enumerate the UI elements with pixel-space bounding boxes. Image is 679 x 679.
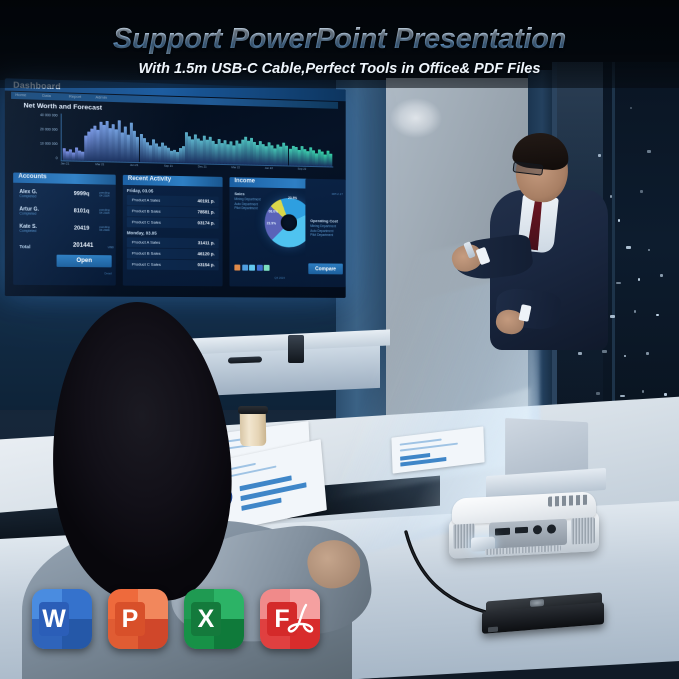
- activity-row[interactable]: Product B Sales 46120 p.: [127, 248, 219, 259]
- city-window-light: [647, 150, 651, 153]
- activity-value: 03174 p.: [198, 220, 215, 225]
- city-window-light: [618, 219, 620, 222]
- account-value: 8101q: [74, 208, 90, 214]
- account-date: pending04 2024: [99, 209, 109, 216]
- operating-cost-item: Pilot Department: [310, 233, 336, 238]
- legend-item: Pilot Department: [234, 206, 260, 211]
- x-tick-label: Sep 21: [164, 164, 173, 168]
- y-tick-label: 20 000 000: [40, 127, 57, 132]
- color-swatch: [249, 265, 255, 271]
- activity-value: 78581 p.: [198, 209, 215, 214]
- activity-row[interactable]: Product A Sales 40191 p.: [127, 195, 219, 207]
- accounts-panel: Accounts Alex G. Completed 9999q pending…: [13, 172, 116, 285]
- pdf-app-icon[interactable]: F: [260, 589, 320, 649]
- power-bank-usbc-port: [488, 627, 498, 633]
- chart-bars: [61, 114, 334, 168]
- income-color-swatches: [234, 265, 269, 271]
- activity-value: 03154 p.: [198, 262, 215, 267]
- activity-row[interactable]: Product C Sales 03174 p.: [127, 217, 219, 228]
- city-window-light: [578, 352, 582, 355]
- dashboard-nav-item[interactable]: Data: [42, 93, 51, 98]
- account-row[interactable]: Alex G. Completed 9999q pending04 2024: [19, 189, 109, 205]
- y-tick-label: 10 000 000: [40, 142, 57, 147]
- account-row[interactable]: Artur G. Completed 8101q pending04 2024: [19, 206, 109, 222]
- activity-label: Product A Sales: [132, 198, 160, 204]
- activity-label: Product A Sales: [132, 240, 160, 245]
- chart-bar: [329, 153, 332, 166]
- activity-value: 46120 p.: [198, 251, 215, 256]
- activity-label: Product C Sales: [132, 262, 161, 267]
- city-window-light: [610, 315, 615, 318]
- activity-value: 31411 p.: [198, 240, 215, 245]
- accounts-title: Accounts: [18, 174, 46, 181]
- x-tick-label: Dec 21: [198, 164, 207, 168]
- x-tick-label: Mar 22: [231, 165, 240, 169]
- color-swatch: [256, 265, 262, 271]
- x-tick-label: Sep 22: [298, 167, 307, 171]
- icon-letter-tile: X: [191, 602, 221, 636]
- hdmi-port: [495, 528, 510, 536]
- chart-y-axis: 40 000 00020 000 00010 000 0000: [24, 113, 59, 165]
- powerpoint-app-icon[interactable]: P: [108, 589, 168, 649]
- coffee-cup-lid: [238, 406, 268, 414]
- city-window-light: [630, 107, 632, 109]
- projector-vent-right: [571, 517, 595, 544]
- account-value: 20419: [74, 225, 89, 231]
- city-window-light: [648, 249, 650, 251]
- speaker-device: [288, 335, 304, 363]
- dashboard-nav-item[interactable]: Admin: [95, 94, 107, 99]
- city-window-light: [664, 393, 667, 396]
- operating-cost-title: Operating Cost: [310, 218, 338, 223]
- power-bank-logo: [530, 599, 544, 607]
- account-value: 9999q: [74, 190, 90, 196]
- accounts-panel-header: Accounts: [13, 172, 116, 184]
- y-tick-label: 0: [56, 156, 58, 160]
- x-tick-label: Jun 21: [130, 163, 138, 167]
- activity-label: Product C Sales: [132, 220, 161, 225]
- compare-button[interactable]: Compare: [308, 263, 343, 274]
- city-window-light: [626, 246, 631, 249]
- city-window-light: [624, 355, 626, 357]
- accounts-total-label: Total: [19, 244, 30, 249]
- account-status: Completed: [19, 194, 36, 198]
- activity-row[interactable]: Product A Sales 31411 p.: [127, 237, 219, 248]
- donut-percent-label: 23.5%: [288, 196, 297, 200]
- word-app-icon[interactable]: W: [32, 589, 92, 649]
- activity-label: Product B Sales: [132, 251, 161, 256]
- accounts-total-currency: USD: [108, 245, 114, 249]
- city-window-light: [598, 154, 601, 157]
- office-app-icons: W P X F: [32, 589, 320, 649]
- city-window-light: [642, 390, 644, 393]
- activity-title: Recent Activity: [128, 176, 171, 183]
- activity-day-label: Friday, 03.05: [127, 188, 153, 194]
- y-tick-label: 40 000 000: [40, 113, 57, 118]
- coffee-cup: [240, 412, 267, 446]
- city-window-light: [646, 352, 649, 355]
- activity-panel-header: Recent Activity: [123, 175, 223, 187]
- excel-app-icon[interactable]: X: [184, 589, 244, 649]
- activity-value: 40191 p.: [198, 198, 215, 203]
- activity-row[interactable]: Product C Sales 03154 p.: [127, 259, 219, 270]
- income-legend-title: Sales: [234, 191, 244, 196]
- account-date: pending04 2024: [99, 226, 109, 233]
- page-subtitle: With 1.5m USB-C Cable,Perfect Tools in O…: [0, 61, 679, 77]
- page-title: Support PowerPoint Presentation: [0, 23, 679, 56]
- projection-screen: Dashboard HomeDataReportAdmin Net Worth …: [5, 78, 346, 298]
- accounts-total-value: 201441: [73, 243, 93, 249]
- dashboard-nav-item[interactable]: Home: [15, 92, 26, 97]
- income-legend: Mining DepartmentAuto DepartmentPilot De…: [234, 197, 260, 211]
- income-title: Income: [234, 178, 255, 184]
- city-window-light: [620, 395, 625, 397]
- account-row[interactable]: Kate S. Completed 20419 pending04 2024: [19, 224, 109, 239]
- operating-cost-items: Mining DepartmentAuto DepartmentPilot De…: [310, 224, 336, 238]
- city-window-light: [596, 392, 600, 395]
- activity-label: Product B Sales: [132, 209, 161, 214]
- icon-letter-tile: W: [39, 602, 69, 636]
- income-footnote: Q4 2024: [274, 276, 284, 280]
- activity-row[interactable]: Product B Sales 78581 p.: [127, 206, 219, 218]
- city-window-light: [634, 310, 636, 313]
- dpi-label: DPI:2.17: [332, 192, 343, 196]
- dashboard-nav-item[interactable]: Report: [69, 94, 81, 99]
- audio-jack-port: [547, 524, 556, 533]
- activity-day-label: Monday, 03.05: [127, 230, 157, 235]
- x-tick-label: Mar 21: [95, 162, 104, 166]
- city-window-light: [610, 195, 612, 198]
- icon-letter-tile: P: [115, 602, 145, 636]
- accounts-footnote: Detail: [104, 271, 111, 275]
- dashboard-app: Dashboard HomeDataReportAdmin Net Worth …: [5, 78, 346, 298]
- city-window-light: [602, 350, 607, 353]
- header-banner: Support PowerPoint Presentation With 1.5…: [0, 0, 679, 88]
- chart-title: Net Worth and Forecast: [24, 102, 103, 111]
- city-window-light: [638, 278, 640, 281]
- operating-cost-panel: DPI:2.17 Operating Cost Mining Departmen…: [305, 179, 345, 287]
- donut-hole: [281, 214, 297, 231]
- color-swatch: [264, 265, 270, 271]
- color-swatch: [242, 265, 248, 271]
- recent-activity-panel: Recent Activity Friday, 03.05 Product A …: [123, 175, 223, 286]
- net-worth-chart: Net Worth and Forecast 40 000 00020 000 …: [24, 102, 335, 172]
- portable-projector: [449, 491, 599, 561]
- color-swatch: [234, 265, 240, 271]
- account-status: Completed: [19, 212, 36, 216]
- usb-port: [515, 527, 528, 534]
- av-port: [533, 525, 542, 534]
- city-window-light: [616, 282, 621, 284]
- account-date: pending04 2024: [99, 191, 109, 198]
- x-tick-label: Jun 22: [265, 166, 273, 170]
- city-window-light: [660, 274, 663, 277]
- donut-percent-label: 08.0%: [269, 210, 278, 214]
- product-marketing-image: Dashboard HomeDataReportAdmin Net Worth …: [0, 0, 679, 679]
- x-tick-label: Jan 21: [61, 161, 70, 165]
- city-window-light: [640, 190, 643, 193]
- open-button[interactable]: Open: [57, 255, 112, 268]
- acrobat-swirl-icon: [286, 603, 316, 636]
- city-window-light: [656, 314, 659, 316]
- donut-percent-label: 23.9%: [267, 221, 276, 225]
- remote-control-on-credenza: [228, 356, 262, 363]
- account-status: Completed: [19, 229, 36, 233]
- projector-control-buttons[interactable]: [548, 495, 588, 507]
